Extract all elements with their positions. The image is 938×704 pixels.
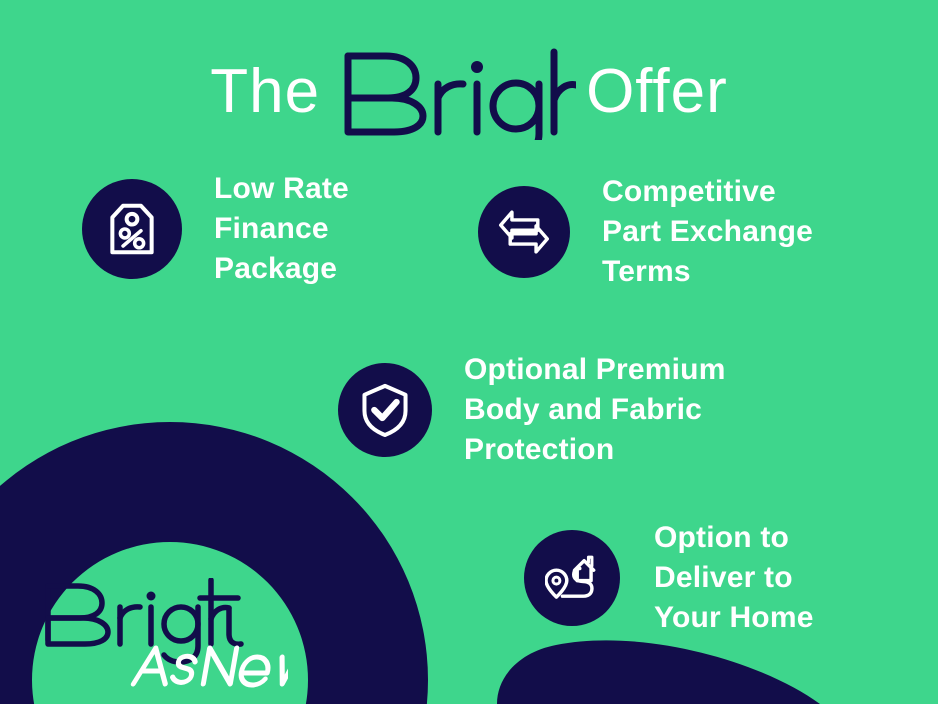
exchange-arrows-icon <box>478 186 570 278</box>
delivery-route-home-icon <box>524 530 620 626</box>
navy-corner-arc <box>497 640 820 704</box>
feature-label: Low Rate Finance Package <box>214 169 349 289</box>
feature-item: Optional Premium Body and Fabric Protect… <box>338 350 726 470</box>
feature-label: Optional Premium Body and Fabric Protect… <box>464 350 726 470</box>
feature-item: Competitive Part Exchange Terms <box>478 172 813 292</box>
feature-item: Low Rate Finance Package <box>82 169 349 289</box>
headline-prefix: The <box>210 61 320 123</box>
feature-label: Option to Deliver to Your Home <box>654 518 814 638</box>
shield-check-icon <box>338 363 432 457</box>
bright-wordmark: Bright <box>330 44 576 140</box>
price-tag-percent-icon <box>82 179 182 279</box>
headline-suffix: Offer <box>586 61 728 123</box>
brightasnew-logo[interactable]: Bright AsNew <box>38 578 288 688</box>
page-title: The Bright <box>0 44 938 140</box>
offer-graphic: The Bright <box>0 0 938 704</box>
feature-label: Competitive Part Exchange Terms <box>602 172 813 292</box>
feature-item: Option to Deliver to Your Home <box>524 518 814 638</box>
